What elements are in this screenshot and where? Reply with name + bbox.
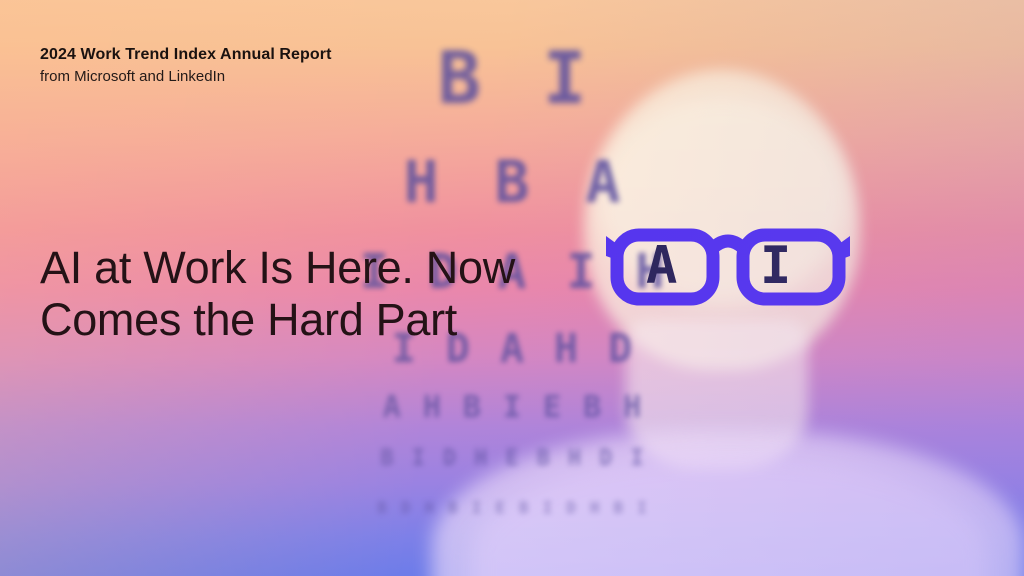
glasses-right-temple — [839, 236, 850, 260]
eye-chart-row-6: BIDHEBHDI — [0, 446, 1024, 471]
eye-chart-row-2: HBA — [0, 148, 1024, 216]
page-title: AI at Work Is Here. Now Comes the Hard P… — [40, 242, 560, 346]
eye-chart-row-5: AHBIEBH — [0, 390, 1024, 425]
report-cover: BI HBA IDAIH IDAHD AHBIEBH BIDHEBHDI BDH… — [0, 0, 1024, 576]
report-title: 2024 Work Trend Index Annual Report — [40, 44, 332, 66]
report-subtitle: from Microsoft and LinkedIn — [40, 67, 332, 87]
report-header: 2024 Work Trend Index Annual Report from… — [40, 44, 332, 87]
glasses-left-lens — [617, 235, 713, 299]
glasses-left-temple — [606, 236, 617, 260]
glasses-bridge — [713, 241, 743, 248]
eye-chart-row-7: BDHBIEBIDHBI — [0, 498, 1024, 517]
eyeglasses — [608, 226, 848, 308]
glasses-right-lens — [743, 235, 839, 299]
